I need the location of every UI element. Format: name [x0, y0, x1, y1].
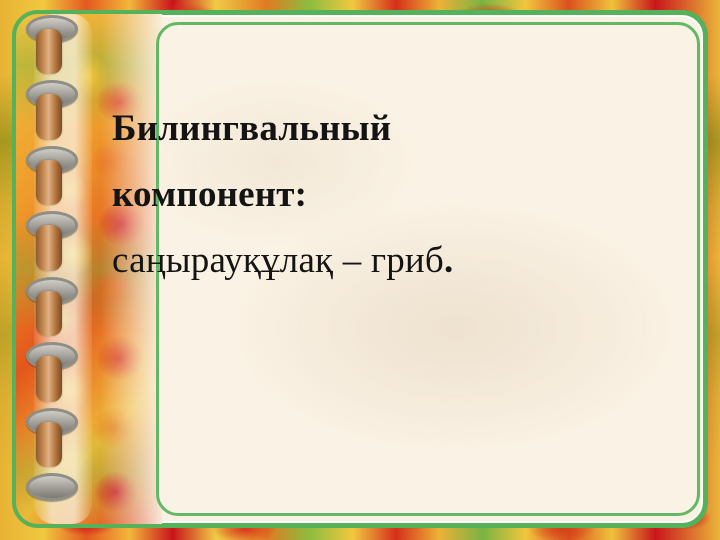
body-line: саңырауқұлақ – гриб. [112, 228, 632, 294]
slide-text-block: Билингвальный компонент: саңырауқұлақ – … [112, 96, 632, 294]
title-line-2: компонент: [112, 162, 632, 228]
spiral-coil [36, 94, 62, 140]
body-line-text: саңырауқұлақ – гриб [112, 240, 444, 281]
spiral-binding [26, 8, 72, 532]
spiral-coil [36, 225, 62, 271]
spiral-coil [36, 160, 62, 206]
body-line-period: . [444, 240, 453, 281]
spiral-coil [36, 422, 62, 468]
spiral-coil [36, 291, 62, 337]
spiral-coil [36, 29, 62, 75]
slide-canvas: Билингвальный компонент: саңырауқұлақ – … [0, 0, 720, 540]
spiral-coil [36, 356, 62, 402]
title-line-1: Билингвальный [112, 96, 632, 162]
spiral-ring [26, 473, 78, 501]
